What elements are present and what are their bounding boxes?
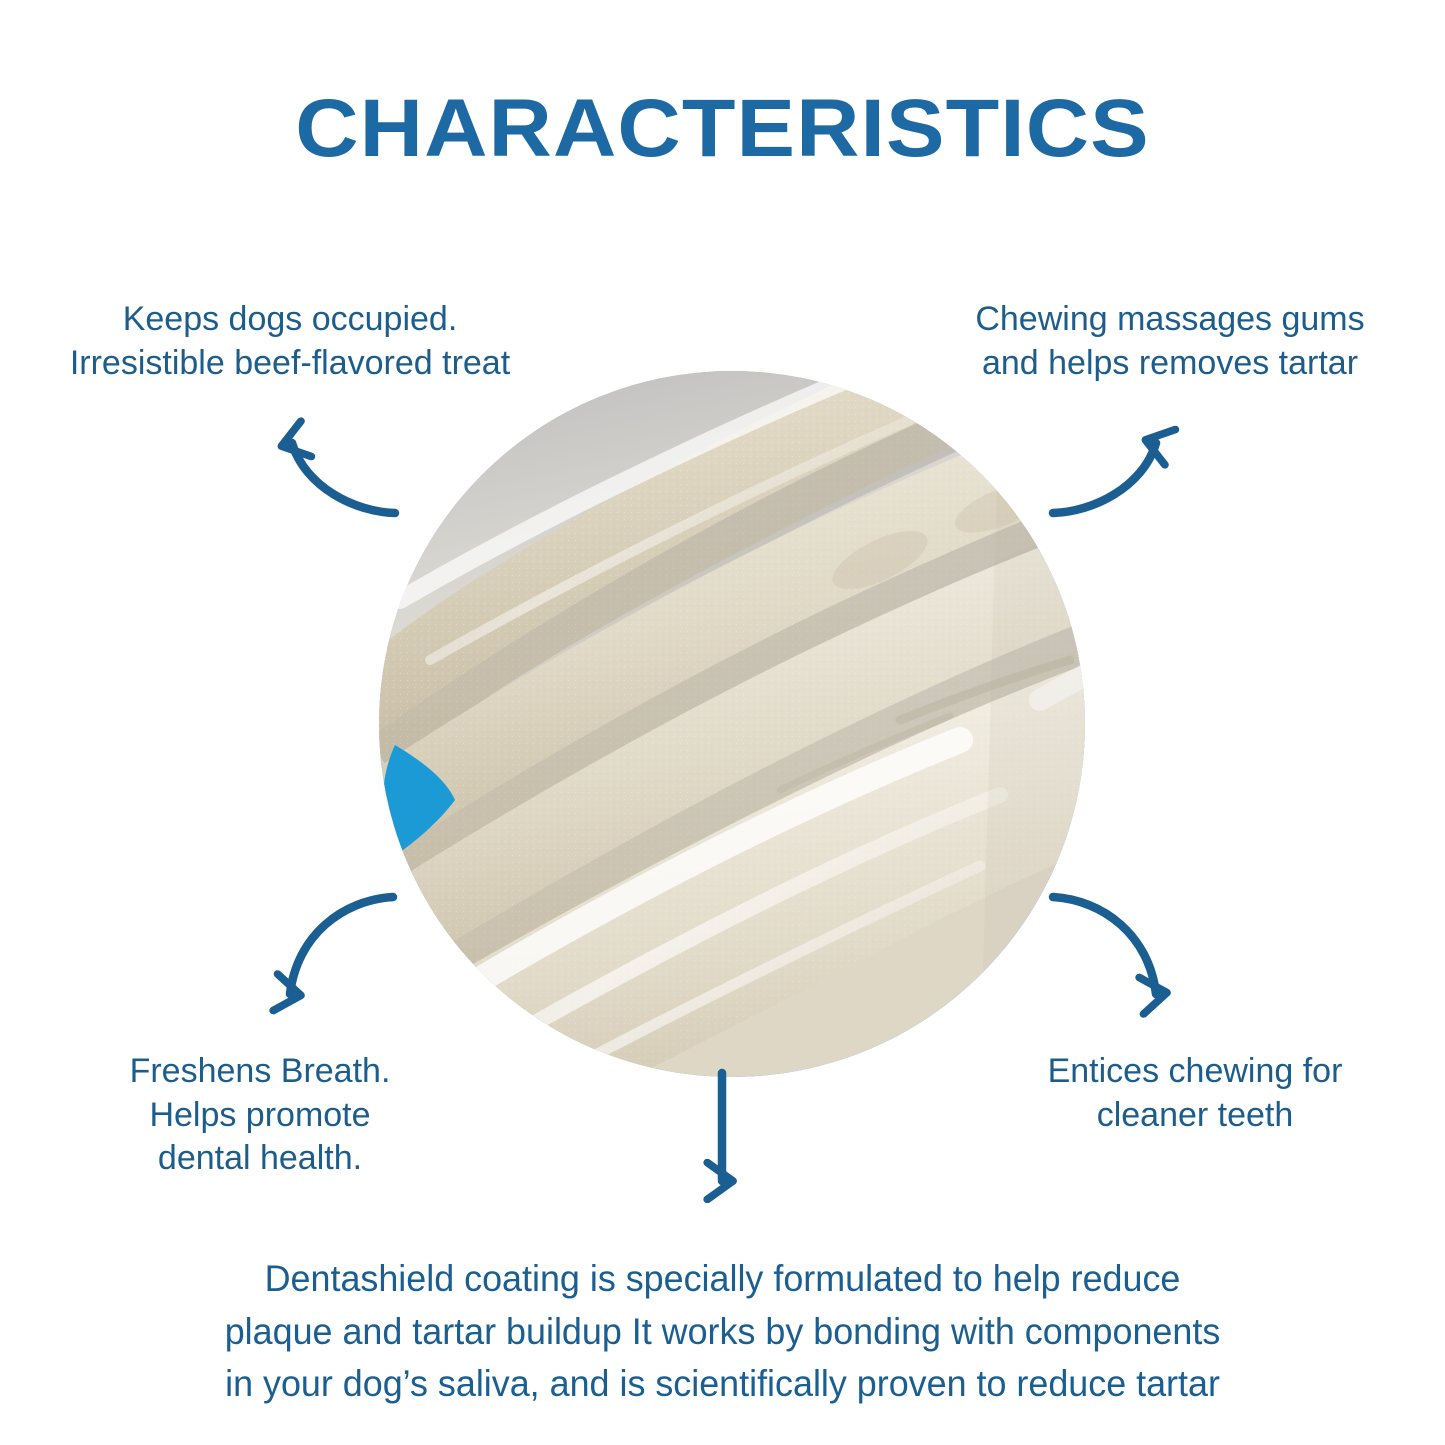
callout-top-left: Keeps dogs occupied. Irresistible beef-f…: [10, 298, 570, 385]
infographic-canvas: CHARACTERISTICS: [0, 0, 1445, 1445]
arrow-bottom-left: [290, 897, 393, 994]
graphics-layer: [0, 0, 1445, 1445]
arrow-top-left: [292, 443, 395, 513]
arrow-top-right: [1053, 443, 1156, 513]
callout-bottom-center: Dentashield coating is specially formula…: [80, 1253, 1365, 1411]
callout-bottom-left: Freshens Breath. Helps promote dental he…: [40, 1050, 480, 1181]
product-circle-background: [379, 371, 1085, 1077]
page-title: CHARACTERISTICS: [0, 88, 1445, 170]
callout-bottom-right: Entices chewing for cleaner teeth: [975, 1050, 1415, 1137]
arrow-bottom-right: [1053, 897, 1156, 994]
callout-top-right: Chewing massages gums and helps removes …: [900, 298, 1440, 385]
